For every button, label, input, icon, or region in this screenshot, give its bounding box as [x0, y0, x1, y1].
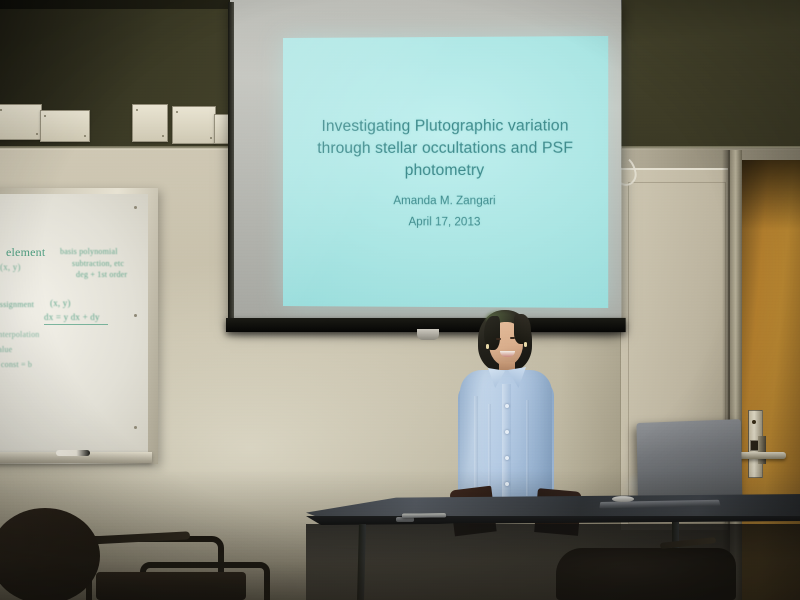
whiteboard-note: deg + 1st order: [76, 270, 127, 279]
screw-icon: [84, 135, 86, 137]
whiteboard-note: (x, y): [0, 262, 21, 272]
screw-icon: [36, 133, 38, 135]
door-handle[interactable]: [734, 452, 786, 459]
wall-plate: [132, 104, 168, 142]
shirt-button: [505, 456, 509, 460]
whiteboard-note: element: [6, 245, 45, 260]
screw-icon: [176, 111, 178, 113]
whiteboard-fraction-rule: [44, 324, 108, 325]
whiteboard-note: basis polynomial: [60, 247, 118, 256]
screw-icon: [134, 426, 137, 429]
ceiling-edge: [0, 0, 250, 9]
whiteboard-note: = const = b: [0, 360, 32, 369]
whiteboard-note: dx = y dx + dy: [44, 312, 100, 322]
projection-screen-pull-handle[interactable]: [417, 329, 439, 340]
screw-icon: [134, 206, 137, 209]
whiteboard-note: assignment: [0, 300, 34, 309]
projected-slide: Investigating Plutographic variation thr…: [283, 36, 608, 308]
floor-level-shadow: [0, 470, 800, 600]
screw-icon: [44, 115, 46, 117]
wall-plate: [0, 104, 42, 140]
whiteboard-note: subtraction, etc: [72, 259, 124, 268]
shirt-button: [505, 404, 509, 408]
slide-date: April 17, 2013: [409, 216, 481, 228]
screw-icon: [134, 314, 137, 317]
wall-plate: [172, 106, 216, 144]
shirt-button: [505, 430, 509, 434]
whiteboard-note: interpolation: [0, 330, 39, 339]
screw-icon: [136, 109, 138, 111]
slide-title: Investigating Plutographic variation thr…: [304, 115, 586, 182]
screw-icon: [162, 135, 164, 137]
earring-right: [524, 342, 527, 347]
eye-left: [496, 338, 501, 340]
whiteboard-note: value: [0, 345, 12, 354]
whiteboard-marker[interactable]: [56, 450, 90, 456]
screw-icon: [0, 109, 2, 111]
whiteboard-note: (x, y): [50, 298, 71, 308]
earring-left: [486, 344, 489, 349]
door-handle-post: [758, 436, 766, 464]
photo-scene: Investigating Plutographic variation thr…: [0, 0, 800, 600]
door-top-shadow: [740, 160, 800, 230]
hair-front-right: [514, 314, 531, 344]
screw-icon: [210, 137, 212, 139]
eye-right: [510, 337, 515, 339]
lock-led-icon: [752, 420, 756, 424]
projection-screen-left-edge: [228, 2, 234, 328]
slide-author: Amanda M. Zangari: [393, 195, 495, 207]
wall-plate: [40, 110, 90, 142]
